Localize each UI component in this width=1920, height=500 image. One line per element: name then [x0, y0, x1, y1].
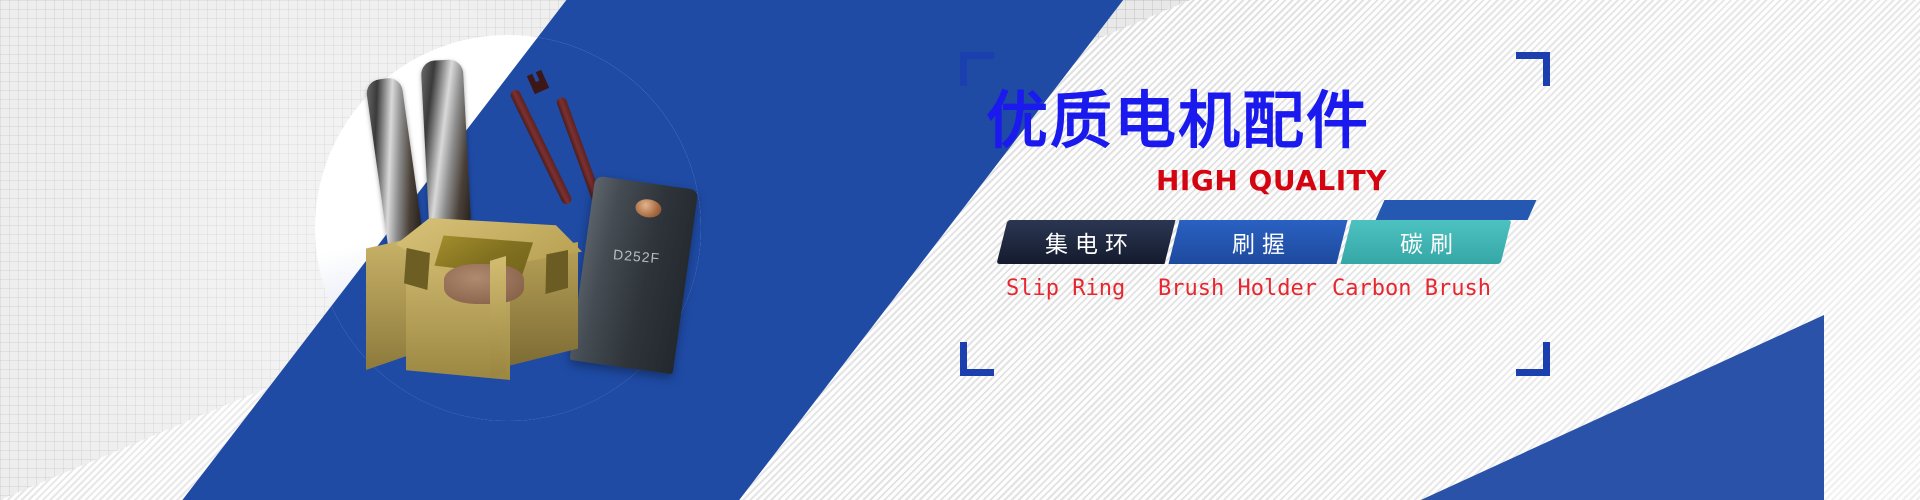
brush-holder-icon [366, 190, 602, 380]
category-label-en-carbon-brush: Carbon Brush [1332, 276, 1491, 301]
holder-slot [404, 248, 430, 290]
holder-inner-bore [444, 264, 524, 304]
cable-lug-icon [527, 70, 550, 95]
corner-bracket-top-left-icon [960, 52, 994, 86]
holder-rib [490, 256, 506, 378]
category-segment-bar: 集电环 刷握 碳刷 [1002, 220, 1502, 264]
brush-terminal-stud-icon [634, 198, 662, 219]
category-segment-carbon-brush[interactable]: 碳刷 [1341, 220, 1512, 264]
corner-bracket-bottom-right-icon [1516, 342, 1550, 376]
category-segment-slip-ring[interactable]: 集电环 [997, 220, 1176, 264]
corner-bracket-top-right-icon [1516, 52, 1550, 86]
banner-headline: 优质电机配件 [986, 90, 1370, 152]
category-label-en-slip-ring: Slip Ring [1006, 276, 1125, 301]
category-label-cn: 碳刷 [1393, 225, 1460, 259]
category-english-row: Slip Ring Brush Holder Carbon Brush [1002, 276, 1502, 306]
category-label-cn: 集电环 [1038, 225, 1135, 259]
banner-content: 优质电机配件 HIGH QUALITY 集电环 刷握 碳刷 Slip Ring … [960, 52, 1580, 412]
category-label-en-brush-holder: Brush Holder [1158, 276, 1317, 301]
holder-slot [544, 250, 568, 294]
banner-subheadline: HIGH QUALITY [1156, 164, 1387, 197]
promo-banner: D252F 优质电机配件 HIGH QUALITY [0, 0, 1920, 500]
holder-left-face [366, 238, 412, 370]
product-photo: D252F [330, 50, 750, 380]
subheadline-accent-bar [1376, 200, 1537, 220]
category-label-cn: 刷握 [1225, 225, 1292, 259]
category-segment-brush-holder[interactable]: 刷握 [1169, 220, 1348, 264]
corner-bracket-bottom-left-icon [960, 342, 994, 376]
